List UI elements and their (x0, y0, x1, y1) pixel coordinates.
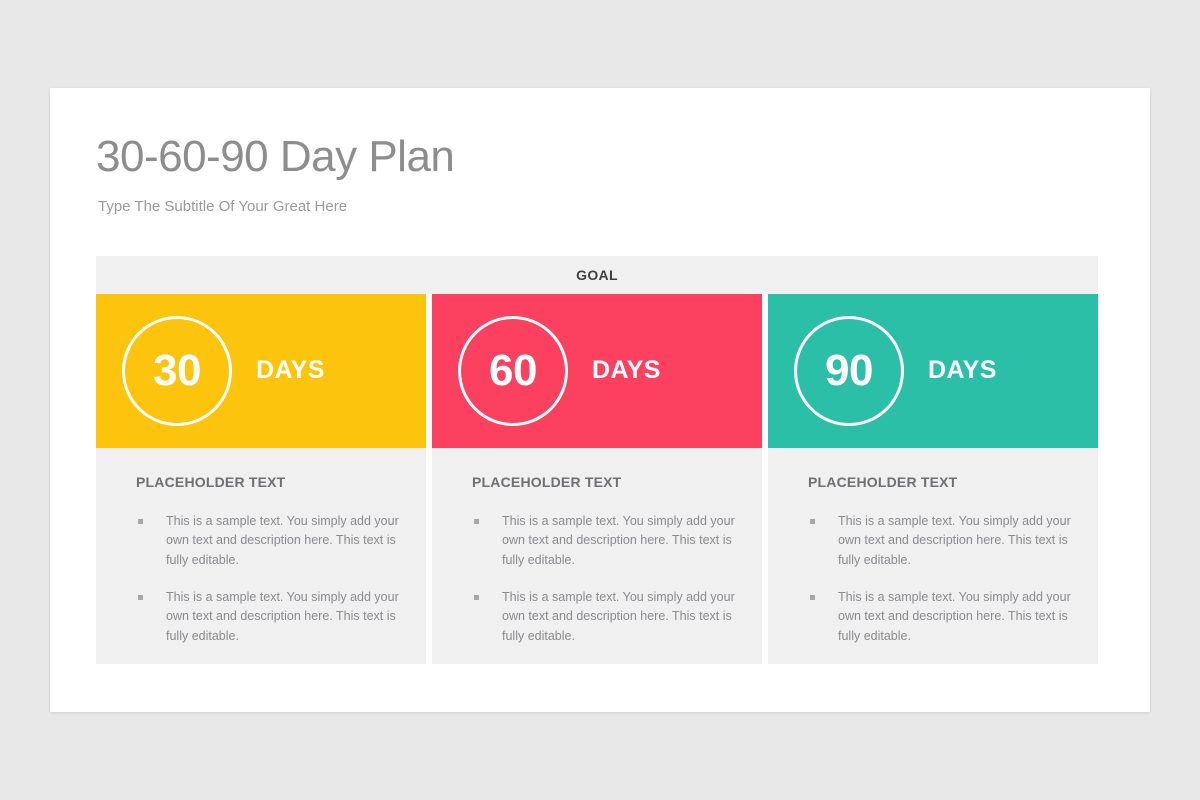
bullet-list-60: This is a sample text. You simply add yo… (472, 512, 740, 646)
bullet-list-30: This is a sample text. You simply add yo… (136, 512, 404, 646)
phase-column-60[interactable]: 60 DAYS PLACEHOLDER TEXT This is a sampl… (432, 294, 762, 664)
phase-heading-90: PLACEHOLDER TEXT (808, 474, 1076, 490)
phase-banner-30: 30 DAYS (96, 294, 426, 448)
phase-body-30: PLACEHOLDER TEXT This is a sample text. … (96, 448, 426, 664)
day-number-30: 30 (153, 349, 201, 393)
day-circle-icon-60: 60 (458, 316, 568, 426)
phase-heading-30: PLACEHOLDER TEXT (136, 474, 404, 490)
day-circle-icon-90: 90 (794, 316, 904, 426)
page-subtitle: Type The Subtitle Of Your Great Here (98, 198, 347, 215)
phase-banner-90: 90 DAYS (768, 294, 1098, 448)
phase-column-90[interactable]: 90 DAYS PLACEHOLDER TEXT This is a sampl… (768, 294, 1098, 664)
list-item: This is a sample text. You simply add yo… (808, 512, 1076, 570)
day-number-90: 90 (825, 349, 873, 393)
phase-heading-60: PLACEHOLDER TEXT (472, 474, 740, 490)
goal-header-bar: GOAL (96, 256, 1098, 294)
list-item: This is a sample text. You simply add yo… (472, 512, 740, 570)
day-unit-label-60: DAYS (592, 356, 661, 385)
day-unit-label-90: DAYS (928, 356, 997, 385)
day-unit-label-30: DAYS (256, 356, 325, 385)
phase-body-90: PLACEHOLDER TEXT This is a sample text. … (768, 448, 1098, 664)
list-item: This is a sample text. You simply add yo… (136, 588, 404, 646)
list-item: This is a sample text. You simply add yo… (472, 588, 740, 646)
phase-banner-60: 60 DAYS (432, 294, 762, 448)
page-title: 30-60-90 Day Plan (96, 132, 454, 182)
slide-canvas: 30-60-90 Day Plan Type The Subtitle Of Y… (50, 88, 1150, 712)
goal-label: GOAL (576, 267, 618, 283)
phase-columns: 30 DAYS PLACEHOLDER TEXT This is a sampl… (96, 294, 1098, 664)
day-number-60: 60 (489, 349, 537, 393)
bullet-list-90: This is a sample text. You simply add yo… (808, 512, 1076, 646)
phase-column-30[interactable]: 30 DAYS PLACEHOLDER TEXT This is a sampl… (96, 294, 426, 664)
day-circle-icon-30: 30 (122, 316, 232, 426)
list-item: This is a sample text. You simply add yo… (808, 588, 1076, 646)
phase-body-60: PLACEHOLDER TEXT This is a sample text. … (432, 448, 762, 664)
list-item: This is a sample text. You simply add yo… (136, 512, 404, 570)
